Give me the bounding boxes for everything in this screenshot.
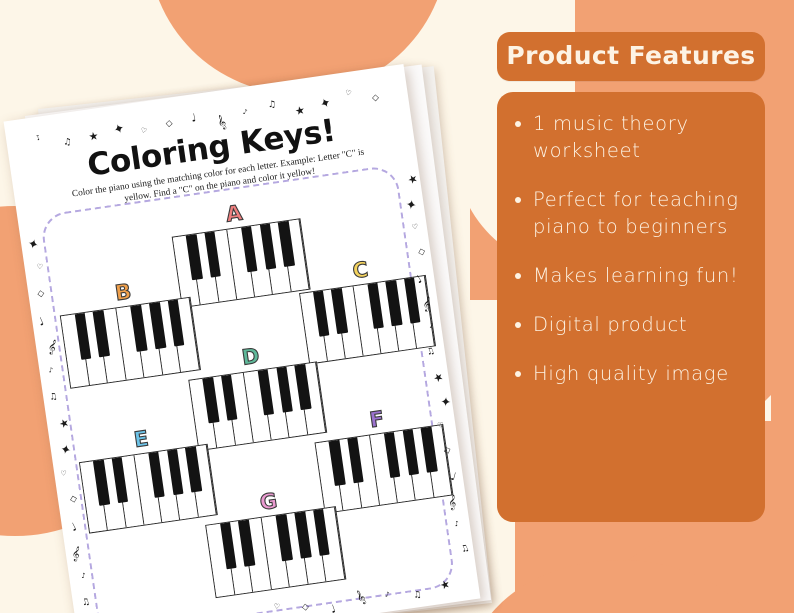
music-doodle-icon: 𝄞 <box>71 547 81 561</box>
music-doodle-icon: ♫ <box>460 544 471 556</box>
music-doodle-icon: ◇ <box>166 120 173 129</box>
feature-item-label: Perfect for teaching piano to beginners <box>533 186 749 240</box>
music-doodle-icon: ◇ <box>302 603 310 613</box>
feature-item: Perfect for teaching piano to beginners <box>511 186 749 240</box>
music-doodle-icon: ◇ <box>37 289 45 299</box>
music-doodle-icon: ♪ <box>242 109 248 117</box>
music-doodle-icon: ♩ <box>190 112 197 124</box>
music-doodle-icon: ♩ <box>449 471 457 483</box>
music-doodle-icon: ♡ <box>344 90 351 98</box>
bullet-icon <box>515 273 521 279</box>
music-doodle-icon: ♪ <box>429 322 434 330</box>
feature-item-label: 1 music theory worksheet <box>533 110 749 164</box>
product-features-title: Product Features <box>497 32 765 81</box>
music-doodle-icon: ✦ <box>318 96 334 112</box>
music-doodle-icon: ♡ <box>412 224 419 232</box>
music-doodle-icon: ♪ <box>49 367 54 374</box>
music-doodle-icon: ♪ <box>35 134 43 142</box>
music-doodle-icon: 𝄞 <box>47 340 58 354</box>
music-doodle-icon: ♫ <box>426 347 437 358</box>
music-doodle-icon: ♡ <box>273 603 280 611</box>
feature-item-label: Makes learning fun! <box>533 262 739 289</box>
feature-item-label: Digital product <box>533 311 687 338</box>
feature-item: Digital product <box>511 311 749 338</box>
music-doodle-icon: ♡ <box>37 264 44 271</box>
music-doodle-icon: 𝄞 <box>448 496 456 509</box>
music-doodle-icon: ♩ <box>69 521 79 533</box>
music-doodle-icon: ★ <box>88 130 100 142</box>
worksheet-sheet: Coloring Keys! Color the piano using the… <box>4 64 481 613</box>
music-doodle-icon: ★ <box>406 172 420 186</box>
feature-item: High quality image <box>511 360 749 387</box>
product-features-list: 1 music theory worksheetPerfect for teac… <box>497 92 765 522</box>
feature-item: 1 music theory worksheet <box>511 110 749 164</box>
music-doodle-icon: ♩ <box>37 316 46 328</box>
bullet-icon <box>515 322 521 328</box>
feature-item-label: High quality image <box>533 360 729 387</box>
music-doodle-icon: ♩ <box>329 603 338 613</box>
music-doodle-icon: ♡ <box>437 422 444 430</box>
bullet-icon <box>515 197 521 203</box>
canvas: Coloring Keys! Color the piano using the… <box>0 0 794 613</box>
music-doodle-icon: ♪ <box>81 573 86 580</box>
music-doodle-icon: ◇ <box>69 495 78 505</box>
music-doodle-icon: ♫ <box>63 138 72 148</box>
music-doodle-icon: ♡ <box>60 471 66 478</box>
music-doodle-icon: ♡ <box>140 127 148 135</box>
music-doodle-icon: ✦ <box>26 237 40 252</box>
bullet-icon <box>515 371 521 377</box>
music-doodle-icon: ✦ <box>59 443 72 458</box>
music-doodle-icon: ♫ <box>268 101 276 110</box>
music-doodle-icon: 𝄞 <box>422 298 431 312</box>
music-doodle-icon: ♫ <box>413 591 422 601</box>
music-doodle-icon: ✦ <box>112 122 127 138</box>
music-doodle-icon: ♪ <box>454 521 460 529</box>
music-doodle-icon: ✦ <box>405 199 418 213</box>
music-doodle-icon: ★ <box>438 578 451 592</box>
music-doodle-icon: ★ <box>431 370 445 385</box>
music-doodle-icon: ◇ <box>372 94 379 103</box>
music-doodle-icon: ◇ <box>417 247 426 258</box>
music-doodle-icon: ★ <box>294 104 306 117</box>
music-doodle-icon: ✦ <box>440 396 452 410</box>
music-doodle-icon: ♫ <box>81 598 91 609</box>
bullet-icon <box>515 121 521 127</box>
feature-item: Makes learning fun! <box>511 262 749 289</box>
music-doodle-icon: ♪ <box>385 592 390 599</box>
product-features-panel: Product Features 1 music theory workshee… <box>497 32 765 522</box>
music-doodle-icon: ♫ <box>49 393 59 404</box>
